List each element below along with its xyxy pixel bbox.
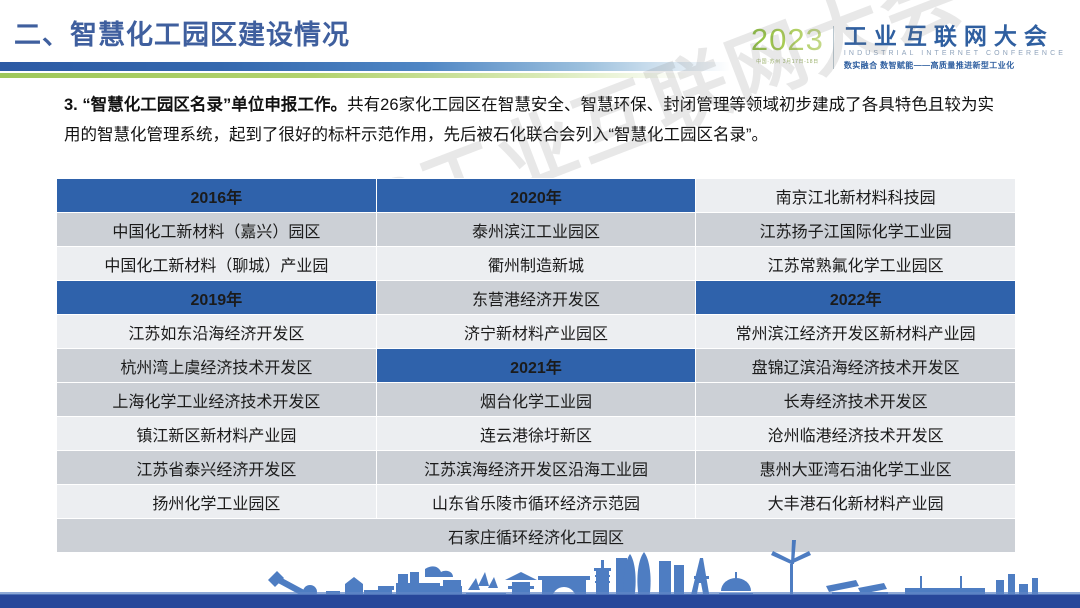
table-park-cell: 连云港徐圩新区 [376, 417, 696, 451]
table-park-cell: 东营港经济开发区 [376, 281, 696, 315]
footer-skyline [0, 536, 1080, 608]
table-park-cell: 大丰港石化新材料产业园 [696, 485, 1016, 519]
table-park-cell: 泰州滨江工业园区 [376, 213, 696, 247]
park-list-table: 2016年2020年南京江北新材料科技园中国化工新材料（嘉兴）园区泰州滨江工业园… [56, 178, 1016, 553]
table-park-cell: 南京江北新材料科技园 [696, 179, 1016, 213]
skyline-silhouette [268, 540, 1038, 600]
table-year-header-cell: 2022年 [696, 281, 1016, 315]
table-park-cell: 上海化学工业经济技术开发区 [57, 383, 377, 417]
table-year-header-cell: 2019年 [57, 281, 377, 315]
table-park-cell: 济宁新材料产业园区 [376, 315, 696, 349]
table-park-cell: 江苏常熟氟化学工业园区 [696, 247, 1016, 281]
body-paragraph: 3. “智慧化工园区名录”单位申报工作。共有26家化工园区在智慧安全、智慧环保、… [64, 90, 994, 150]
table-park-cell: 扬州化学工业园区 [57, 485, 377, 519]
footer-band-highlight [0, 592, 1080, 595]
table-park-cell: 中国化工新材料（嘉兴）园区 [57, 213, 377, 247]
body-lead: 3. “智慧化工园区名录”单位申报工作。 [64, 96, 347, 114]
table-year-header-cell: 2021年 [376, 349, 696, 383]
table-park-cell: 江苏扬子江国际化学工业园 [696, 213, 1016, 247]
skyline-graphic [0, 536, 1080, 608]
table-body: 2016年2020年南京江北新材料科技园中国化工新材料（嘉兴）园区泰州滨江工业园… [57, 179, 1016, 553]
header-accent-bar-blue [0, 62, 730, 71]
footer-band [0, 594, 1080, 608]
table-year-header-cell: 2020年 [376, 179, 696, 213]
header-accent-bar-green [0, 73, 690, 78]
table-park-cell: 衢州制造新城 [376, 247, 696, 281]
logo-year-subtitle: 中国·苏州 3月17日-18日 [756, 58, 819, 66]
table-park-cell: 江苏滨海经济开发区沿海工业园 [376, 451, 696, 485]
table-row: 2016年2020年南京江北新材料科技园 [57, 179, 1016, 213]
table-park-cell: 镇江新区新材料产业园 [57, 417, 377, 451]
logo-name-cn: 工业互联网大会 [844, 24, 1066, 49]
table-row: 上海化学工业经济技术开发区烟台化学工业园长寿经济技术开发区 [57, 383, 1016, 417]
table-park-cell: 常州滨江经济开发区新材料产业园 [696, 315, 1016, 349]
table-park-cell: 江苏如东沿海经济开发区 [57, 315, 377, 349]
table-row: 中国化工新材料（嘉兴）园区泰州滨江工业园区江苏扬子江国际化学工业园 [57, 213, 1016, 247]
table-year-header-cell: 2016年 [57, 179, 377, 213]
table-row: 镇江新区新材料产业园连云港徐圩新区沧州临港经济技术开发区 [57, 417, 1016, 451]
table-park-cell: 山东省乐陵市循环经济示范园 [376, 485, 696, 519]
logo-year: 2023 [751, 24, 824, 55]
logo-slogan: 数实融合 数智赋能——高质量推进新型工业化 [844, 60, 1066, 71]
table-row: 中国化工新材料（聊城）产业园衢州制造新城江苏常熟氟化学工业园区 [57, 247, 1016, 281]
table-row: 扬州化学工业园区山东省乐陵市循环经济示范园大丰港石化新材料产业园 [57, 485, 1016, 519]
table-park-cell: 长寿经济技术开发区 [696, 383, 1016, 417]
conference-logo: 2023 中国·苏州 3月17日-18日 工业互联网大会 INDUSTRIAL … [751, 24, 1066, 71]
table-row: 2019年东营港经济开发区2022年 [57, 281, 1016, 315]
logo-name-block: 工业互联网大会 INDUSTRIAL INTERNET CONFERENCE 数… [834, 24, 1066, 71]
table-park-cell: 中国化工新材料（聊城）产业园 [57, 247, 377, 281]
table-park-cell: 杭州湾上虞经济技术开发区 [57, 349, 377, 383]
table-row: 杭州湾上虞经济技术开发区2021年盘锦辽滨沿海经济技术开发区 [57, 349, 1016, 383]
table-park-cell: 惠州大亚湾石油化学工业区 [696, 451, 1016, 485]
page-title: 二、智慧化工园区建设情况 [14, 18, 350, 52]
table-row: 江苏省泰兴经济开发区江苏滨海经济开发区沿海工业园惠州大亚湾石油化学工业区 [57, 451, 1016, 485]
table-park-cell: 沧州临港经济技术开发区 [696, 417, 1016, 451]
logo-year-block: 2023 中国·苏州 3月17日-18日 [751, 24, 833, 66]
table-park-cell: 盘锦辽滨沿海经济技术开发区 [696, 349, 1016, 383]
table-park-cell: 烟台化学工业园 [376, 383, 696, 417]
table-row: 江苏如东沿海经济开发区济宁新材料产业园区常州滨江经济开发区新材料产业园 [57, 315, 1016, 349]
table-park-cell: 江苏省泰兴经济开发区 [57, 451, 377, 485]
slide-root: 二、智慧化工园区建设情况 2023 中国·苏州 3月17日-18日 工业互联网大… [0, 0, 1080, 608]
logo-name-en: INDUSTRIAL INTERNET CONFERENCE [844, 49, 1066, 59]
